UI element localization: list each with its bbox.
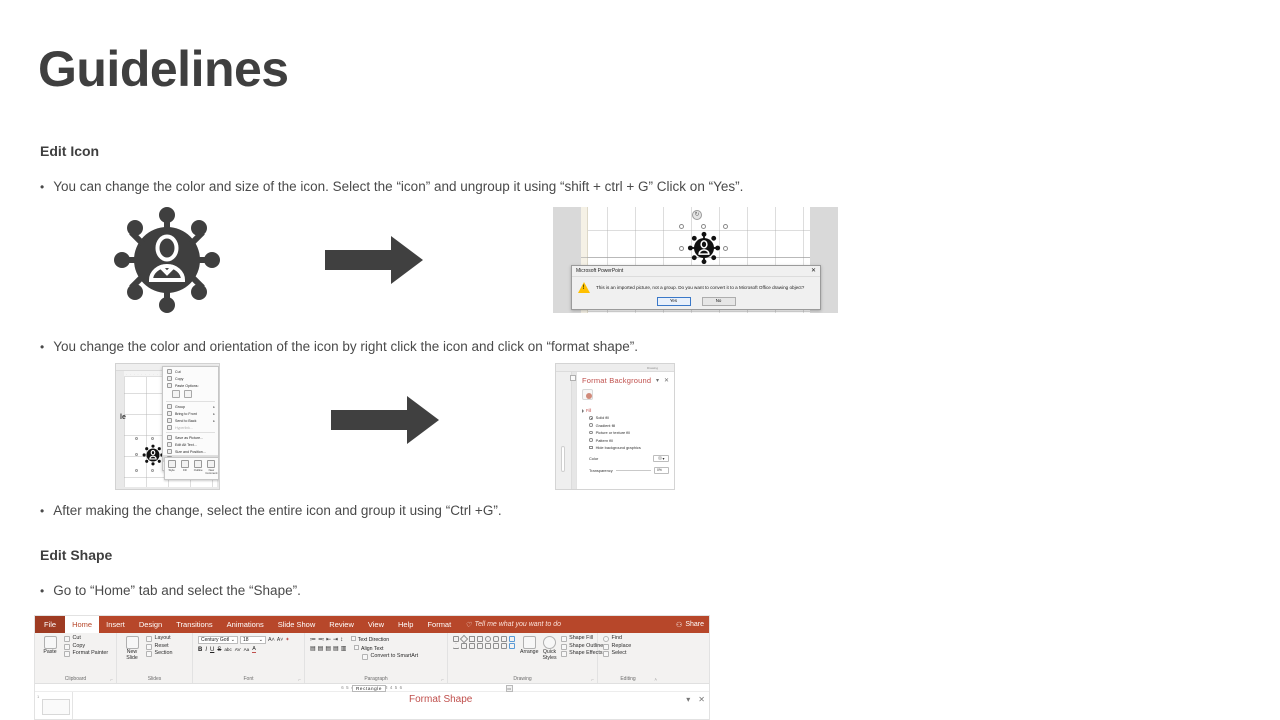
- quick-styles-button[interactable]: Quick Styles: [542, 636, 556, 661]
- text-direction-label: Text Direction: [358, 637, 389, 643]
- replace-button[interactable]: Replace: [603, 644, 653, 650]
- menu-item-paste-options[interactable]: Paste Options:: [163, 382, 218, 389]
- decrease-indent-icon[interactable]: ⇤: [326, 636, 331, 643]
- tab-file[interactable]: File: [35, 616, 65, 633]
- format-painter-button[interactable]: Format Painter: [64, 651, 108, 657]
- selected-virus-icon[interactable]: [687, 231, 721, 265]
- bullet-marker-icon: •: [40, 585, 44, 597]
- bullet-text: Go to “Home” tab and select the “Shape”.: [53, 583, 301, 598]
- section-heading-edit-icon: Edit Icon: [40, 143, 99, 159]
- submenu-chevron-icon: ▸: [213, 412, 215, 416]
- group-items: Paste Cut Copy Format Pain: [40, 636, 111, 657]
- tell-me-search[interactable]: ♡ Tell me what you want to do: [458, 616, 568, 633]
- transparency-slider[interactable]: [616, 470, 651, 471]
- pane-controls: ▾ ✕: [656, 377, 669, 384]
- group-items: New Slide Layout Reset Sec: [122, 636, 187, 661]
- tell-me-label: Tell me what you want to do: [474, 621, 561, 628]
- clear-formatting-icon[interactable]: ✦: [285, 637, 290, 643]
- mini-toolbar: Style Fill Outline New Comment: [164, 457, 219, 480]
- dialog-body: This is an imported picture, not a group…: [572, 277, 820, 295]
- chevron-down-icon[interactable]: ▾: [686, 695, 690, 704]
- menu-item-copy[interactable]: Copy: [163, 375, 218, 382]
- cut-icon: [167, 369, 172, 374]
- option-gradient-fill[interactable]: Gradient fill: [589, 423, 669, 428]
- slide-number: 1: [37, 694, 39, 699]
- yes-button[interactable]: Yes: [657, 297, 691, 306]
- style-icon: [168, 460, 176, 468]
- increase-font-size-icon[interactable]: A˄: [268, 637, 275, 643]
- group-label: Editing: [598, 676, 658, 682]
- send-to-back-icon: [167, 418, 172, 423]
- format-shape-title: Format Shape: [409, 694, 472, 705]
- underline-button[interactable]: U: [210, 647, 214, 653]
- group-label: Font: [193, 676, 304, 682]
- strikethrough-button[interactable]: S: [217, 647, 221, 653]
- shape-star-icon[interactable]: [501, 643, 507, 649]
- format-painter-icon: [64, 651, 70, 657]
- clipboard-commands: Cut Copy Format Painter: [64, 636, 108, 657]
- font-format-buttons: B I U S abc AV Aa A: [198, 646, 299, 653]
- format-shape-pane: Format Shape ▾ ✕: [409, 694, 705, 705]
- right-arrow-icon: [325, 236, 423, 284]
- shape-arrow-icon[interactable]: [469, 636, 475, 642]
- mini-toolbar-label: Fill: [183, 469, 187, 472]
- convert-to-smartart-button[interactable]: Convert to SmartArt: [362, 654, 442, 660]
- shape-tooltip: Rectangle: [352, 685, 386, 692]
- screenshot-format-background: Drawing Format Background ▾ ✕ Fill Solid…: [555, 363, 675, 490]
- lightbulb-icon: ♡: [465, 621, 471, 629]
- copy-icon: [64, 644, 70, 650]
- dialog-titlebar: Microsoft PowerPoint ✕: [572, 266, 820, 277]
- align-text-icon: [354, 645, 359, 650]
- dialog-launcher-icon[interactable]: ⌐: [591, 677, 594, 682]
- copy-button[interactable]: Copy: [64, 644, 108, 650]
- new-comment-icon: [207, 460, 215, 468]
- menu-item-label: Hyperlink...: [175, 426, 193, 430]
- replace-label: Replace: [612, 644, 632, 650]
- shape-fill-icon: [561, 636, 567, 642]
- copy-label: Copy: [73, 644, 86, 650]
- fill-icon: [181, 460, 189, 468]
- shape-curve-icon[interactable]: [461, 643, 467, 649]
- menu-item-label: Group: [175, 405, 185, 409]
- outline-icon: [194, 460, 202, 468]
- bullet-text: You change the color and orientation of …: [53, 339, 638, 354]
- context-menu-popup: Cut Copy Paste Options: Group ▸: [162, 366, 219, 471]
- share-button[interactable]: ⚇ Share: [676, 616, 704, 633]
- menu-item-label: Edit Alt Text...: [175, 443, 197, 447]
- cut-label: Cut: [73, 636, 81, 642]
- reset-icon: [146, 644, 152, 650]
- format-painter-label: Format Painter: [73, 651, 109, 657]
- mini-toolbar-fill[interactable]: Fill: [179, 460, 191, 472]
- checkbox-icon: [589, 446, 593, 450]
- editing-commands: Find Replace Select: [603, 636, 653, 657]
- warning-icon: [578, 282, 590, 293]
- arrange-icon: [523, 636, 536, 649]
- mini-toolbar-outline[interactable]: Outline: [192, 460, 204, 472]
- option-picture-or-texture-fill[interactable]: Picture or texture fill: [589, 430, 669, 435]
- justify-icon[interactable]: ▤: [333, 645, 339, 652]
- slides-commands: Layout Reset Section: [146, 636, 172, 657]
- menu-divider: [166, 432, 215, 433]
- shape-rounded-rect-icon[interactable]: [493, 636, 499, 642]
- paragraph-align-buttons: ▤ ▤ ▤ ▤ ▥ Align Text: [310, 645, 442, 652]
- shape-format-commands: Shape Fill Shape Outline Shape Effects: [561, 636, 604, 657]
- radio-icon: [589, 431, 593, 435]
- slide-thumbnail[interactable]: [42, 699, 70, 715]
- section-button[interactable]: Section: [146, 651, 172, 657]
- paste-button[interactable]: Paste: [40, 636, 60, 656]
- shape-fill-label: Shape Fill: [569, 636, 593, 642]
- bullet-text: After making the change, select the enti…: [53, 503, 501, 518]
- guidelines-slide: Guidelines Edit Icon • You can change th…: [0, 0, 1280, 720]
- powerpoint-message-dialog: Microsoft PowerPoint ✕ This is an import…: [571, 265, 821, 310]
- dialog-launcher-icon[interactable]: ⌐: [110, 677, 113, 682]
- slide-thumbnail-pane: 1: [35, 692, 73, 720]
- ribbon-group-drawing: Arrange Quick Styles Shape Fill Sh: [448, 633, 598, 683]
- search-icon: [603, 636, 609, 642]
- transparency-row: Transparency 0%: [589, 467, 669, 474]
- align-center-icon[interactable]: ▤: [318, 645, 324, 652]
- ribbon-group-font: Century Gotl ⌄ 18 ⌄ A˄ A˅ ✦ B I U S: [193, 633, 305, 683]
- screenshot-context-menu: · · · · · · · · · · le: [115, 363, 220, 490]
- group-label: Slides: [117, 676, 192, 682]
- group-label: Clipboard: [35, 676, 116, 682]
- chevron-down-icon: ⌄: [259, 637, 263, 643]
- share-label: Share: [685, 621, 704, 628]
- page-title: Guidelines: [38, 44, 289, 94]
- menu-item-label: Copy: [175, 377, 183, 381]
- format-background-pane: Format Background ▾ ✕ Fill Solid fill Gr…: [576, 372, 674, 489]
- radio-icon: [589, 416, 593, 420]
- fill-group-label: Fill: [586, 408, 591, 413]
- shape-fill-button[interactable]: Shape Fill: [561, 636, 604, 642]
- font-size-combo[interactable]: 18 ⌄: [240, 636, 266, 644]
- find-label: Find: [612, 636, 623, 642]
- radio-icon: [589, 423, 593, 427]
- paste-picture-icon[interactable]: [184, 390, 192, 398]
- option-pattern-fill[interactable]: Pattern fill: [589, 438, 669, 443]
- font-color-button[interactable]: A: [252, 646, 256, 653]
- ribbon-group-slides: New Slide Layout Reset Sec: [117, 633, 193, 683]
- dialog-buttons: Yes No: [572, 297, 820, 306]
- section-heading-edit-shape: Edit Shape: [40, 547, 112, 563]
- bullet-edit-shape-1: • Go to “Home” tab and select the “Shape…: [40, 583, 301, 598]
- bullet-marker-icon: •: [40, 341, 44, 353]
- layout-icon: [146, 636, 152, 642]
- bullet-marker-icon: •: [40, 181, 44, 193]
- replace-icon: [603, 644, 609, 650]
- ribbon-strip: Drawing: [556, 364, 674, 372]
- collapse-ribbon-icon[interactable]: ˄: [654, 677, 657, 682]
- group-items: Arrange Quick Styles Shape Fill Sh: [453, 636, 592, 661]
- bold-button[interactable]: B: [198, 647, 202, 653]
- bullet-edit-icon-2: • You change the color and orientation o…: [40, 339, 638, 354]
- shape-effects-icon: [561, 651, 567, 657]
- shape-scroll-down-icon[interactable]: [509, 643, 515, 649]
- mini-toolbar-style[interactable]: Style: [166, 460, 178, 472]
- ribbon-group-paragraph: ≔ ≕ ⇤ ⇥ ↕ Text Direction ▤ ▤ ▤ ▤ ▥: [305, 633, 448, 683]
- color-row: Color ▾: [589, 455, 669, 462]
- section-icon: [146, 651, 152, 657]
- tab-insert[interactable]: Insert: [99, 616, 132, 633]
- transparency-value[interactable]: 0%: [654, 467, 669, 474]
- ribbon-tabs: File Home Insert Design Transitions Anim…: [35, 616, 709, 633]
- shape-gallery[interactable]: [453, 636, 516, 649]
- shape-outline-button[interactable]: Shape Outline: [561, 644, 604, 650]
- shape-connector-icon[interactable]: [469, 643, 475, 649]
- arrange-label: Arrange: [520, 650, 538, 656]
- shape-flowchart-icon[interactable]: [493, 643, 499, 649]
- font-name-combo[interactable]: Century Gotl ⌄: [198, 636, 238, 644]
- tab-review[interactable]: Review: [322, 616, 361, 633]
- text-direction-button[interactable]: Text Direction: [351, 636, 389, 643]
- shape-textbox-icon[interactable]: [453, 636, 459, 642]
- character-spacing-button[interactable]: AV: [235, 647, 241, 652]
- option-label: Picture or texture fill: [596, 430, 630, 435]
- size-position-icon: [167, 449, 172, 454]
- paste-icon: [167, 383, 172, 388]
- bullet-edit-icon-1: • You can change the color and size of t…: [40, 179, 743, 194]
- find-button[interactable]: Find: [603, 636, 653, 642]
- align-text-button[interactable]: Align Text: [354, 645, 383, 652]
- paste-icon: [44, 636, 57, 649]
- tab-animations[interactable]: Animations: [220, 616, 271, 633]
- shape-block-arrow-icon[interactable]: [477, 643, 483, 649]
- pane-header: Format Background ▾ ✕: [582, 376, 669, 385]
- shape-rectangle-icon[interactable]: [477, 636, 483, 642]
- submenu-chevron-icon: ▸: [213, 405, 215, 409]
- select-label: Select: [612, 651, 627, 657]
- menu-item-label: Send to Back: [175, 419, 196, 423]
- smartart-label: Convert to SmartArt: [371, 654, 419, 660]
- tab-home[interactable]: Home: [65, 616, 99, 633]
- paragraph-list-buttons: ≔ ≕ ⇤ ⇥ ↕ Text Direction: [310, 636, 442, 643]
- save-picture-icon: [167, 435, 172, 440]
- scrollbar[interactable]: [561, 446, 565, 472]
- pane-controls: ▾ ✕: [686, 695, 705, 704]
- increase-indent-icon[interactable]: ⇥: [333, 636, 338, 643]
- shape-triangle-icon[interactable]: [453, 643, 459, 649]
- align-right-icon[interactable]: ▤: [325, 645, 331, 652]
- dialog-launcher-icon[interactable]: ⌐: [298, 677, 301, 682]
- horizontal-ruler: 6 5 4 3 2 1 0 1 2 3 4 5 6 Rectangle ▭: [35, 684, 709, 692]
- color-swatch-icon: [658, 456, 662, 460]
- menu-item-send-to-back[interactable]: Send to Back ▸: [163, 417, 218, 424]
- ribbon-group-clipboard: Paste Cut Copy Format Pain: [35, 633, 117, 683]
- cut-button[interactable]: Cut: [64, 636, 108, 642]
- new-slide-button[interactable]: New Slide: [122, 636, 142, 661]
- menu-item-label: Size and Position...: [175, 450, 206, 454]
- no-button[interactable]: No: [702, 297, 736, 306]
- mini-toolbar-new-comment[interactable]: New Comment: [205, 460, 217, 475]
- group-label: Drawing: [448, 676, 597, 682]
- bullet-marker-icon: •: [40, 505, 44, 517]
- option-hide-background-graphics[interactable]: Hide background graphics: [589, 445, 669, 450]
- alt-text-icon: [167, 442, 172, 447]
- shape-freeform-icon[interactable]: [501, 636, 507, 642]
- bullet-text: You can change the color and size of the…: [53, 179, 743, 194]
- pane-title: Format Background: [582, 376, 651, 385]
- menu-divider: [166, 401, 215, 402]
- paste-keep-formatting-icon[interactable]: [172, 390, 180, 398]
- tab-design[interactable]: Design: [132, 616, 169, 633]
- right-arrow-icon: [331, 396, 439, 444]
- menu-item-size-and-position[interactable]: Size and Position...: [163, 448, 218, 455]
- copy-icon: [167, 376, 172, 381]
- tab-view[interactable]: View: [361, 616, 391, 633]
- option-label: Pattern fill: [596, 438, 613, 443]
- rotate-handle-icon[interactable]: ↻: [692, 210, 702, 220]
- select-button[interactable]: Select: [603, 651, 653, 657]
- bullets-icon[interactable]: ≔: [310, 636, 316, 643]
- line-spacing-icon[interactable]: ↕: [340, 637, 343, 643]
- decrease-font-size-icon[interactable]: A˅: [277, 637, 283, 643]
- close-icon[interactable]: ✕: [811, 268, 816, 274]
- menu-item-edit-alt-text[interactable]: Edit Alt Text...: [163, 441, 218, 448]
- tab-format[interactable]: Format: [420, 616, 458, 633]
- chevron-down-icon[interactable]: ▾: [656, 377, 659, 384]
- selected-virus-icon[interactable]: [142, 444, 164, 466]
- hyperlink-icon: [167, 425, 172, 430]
- close-icon[interactable]: ✕: [664, 377, 669, 384]
- font-controls: Century Gotl ⌄ 18 ⌄ A˄ A˅ ✦: [198, 636, 299, 644]
- fill-bucket-icon[interactable]: [582, 389, 593, 400]
- font-size-value: 18: [243, 637, 249, 643]
- mini-toolbar-label: Style: [169, 469, 175, 472]
- tab-slide-show[interactable]: Slide Show: [271, 616, 323, 633]
- quick-styles-icon: [543, 636, 556, 649]
- quick-styles-label: Quick Styles: [542, 650, 556, 661]
- reset-label: Reset: [155, 644, 169, 650]
- reset-button[interactable]: Reset: [146, 644, 172, 650]
- shape-gallery-more-icon[interactable]: [509, 636, 515, 642]
- option-label: Gradient fill: [596, 423, 616, 428]
- menu-item-bring-to-front[interactable]: Bring to Front ▸: [163, 410, 218, 417]
- menu-item-label: Bring to Front: [175, 412, 197, 416]
- collapse-pane-icon[interactable]: ▭: [506, 685, 513, 692]
- option-label: Solid fill: [596, 415, 609, 420]
- menu-item-label: Save as Picture...: [175, 436, 203, 440]
- screenshot-powerpoint-ribbon: File Home Insert Design Transitions Anim…: [34, 615, 710, 720]
- shape-outline-icon: [561, 644, 567, 650]
- new-slide-icon: [126, 636, 139, 649]
- dialog-launcher-icon[interactable]: ⌐: [441, 677, 444, 682]
- slide-editing-area: 1 Format Shape ▾ ✕: [35, 692, 709, 720]
- select-icon: [603, 651, 609, 657]
- group-label: Paragraph: [305, 676, 447, 682]
- smartart-icon: [362, 654, 368, 660]
- dialog-message: This is an imported picture, not a group…: [596, 285, 804, 291]
- radio-icon: [589, 438, 593, 442]
- font-name-value: Century Gotl: [201, 637, 229, 643]
- ribbon-body: Paste Cut Copy Format Pain: [35, 633, 709, 684]
- menu-item-cut[interactable]: Cut: [163, 368, 218, 375]
- layout-label: Layout: [155, 636, 171, 642]
- new-slide-label: New Slide: [122, 650, 142, 661]
- paste-option-buttons[interactable]: [163, 389, 218, 400]
- menu-item-label: Paste Options:: [175, 384, 199, 388]
- mini-toolbar-label: Outline: [194, 469, 203, 472]
- align-left-icon[interactable]: ▤: [310, 645, 316, 652]
- text-shadow-button[interactable]: abc: [224, 647, 231, 652]
- text-direction-icon: [351, 636, 356, 641]
- tab-transitions[interactable]: Transitions: [169, 616, 219, 633]
- shape-line-icon[interactable]: [460, 635, 468, 643]
- submenu-chevron-icon: ▸: [213, 419, 215, 423]
- color-picker-button[interactable]: ▾: [653, 455, 669, 462]
- columns-icon[interactable]: ▥: [341, 645, 347, 652]
- expand-triangle-icon: [582, 409, 584, 413]
- align-text-label: Align Text: [361, 646, 383, 652]
- fill-group-header[interactable]: Fill: [582, 408, 669, 413]
- change-case-button[interactable]: Aa: [244, 647, 250, 652]
- numbering-icon[interactable]: ≕: [318, 636, 324, 643]
- menu-item-group[interactable]: Group ▸: [163, 403, 218, 410]
- close-icon[interactable]: ✕: [698, 695, 705, 704]
- slide-text-fragment: le: [120, 414, 126, 421]
- bring-to-front-icon: [167, 411, 172, 416]
- shape-down-arrow-icon[interactable]: [485, 643, 491, 649]
- shape-oval-icon[interactable]: [485, 636, 491, 642]
- arrange-button[interactable]: Arrange: [520, 636, 538, 656]
- layout-button[interactable]: Layout: [146, 636, 172, 642]
- ribbon-group-editing: Find Replace Select Editing ˄: [598, 633, 658, 683]
- chevron-down-icon: ⌄: [231, 637, 235, 643]
- shape-effects-button[interactable]: Shape Effects: [561, 651, 604, 657]
- dialog-title: Microsoft PowerPoint: [576, 268, 623, 274]
- color-label: Color: [589, 456, 598, 461]
- mini-toolbar-label: New Comment: [205, 469, 217, 475]
- cut-icon: [64, 636, 70, 642]
- virus-person-icon: [111, 204, 223, 316]
- bullet-edit-icon-3: • After making the change, select the en…: [40, 503, 502, 518]
- menu-item-hyperlink: Hyperlink...: [163, 424, 218, 431]
- option-label: Hide background graphics: [596, 445, 641, 450]
- person-icon: ⚇: [676, 621, 682, 629]
- italic-button[interactable]: I: [205, 647, 207, 653]
- menu-item-save-as-picture[interactable]: Save as Picture...: [163, 434, 218, 441]
- screenshot-powerpoint-dialog: ↻: [553, 207, 838, 313]
- menu-item-label: Cut: [175, 370, 181, 374]
- transparency-label: Transparency: [589, 468, 613, 473]
- tab-help[interactable]: Help: [391, 616, 420, 633]
- group-icon: [167, 404, 172, 409]
- paste-label: Paste: [43, 650, 56, 656]
- option-solid-fill[interactable]: Solid fill: [589, 415, 669, 420]
- section-label: Section: [155, 651, 173, 657]
